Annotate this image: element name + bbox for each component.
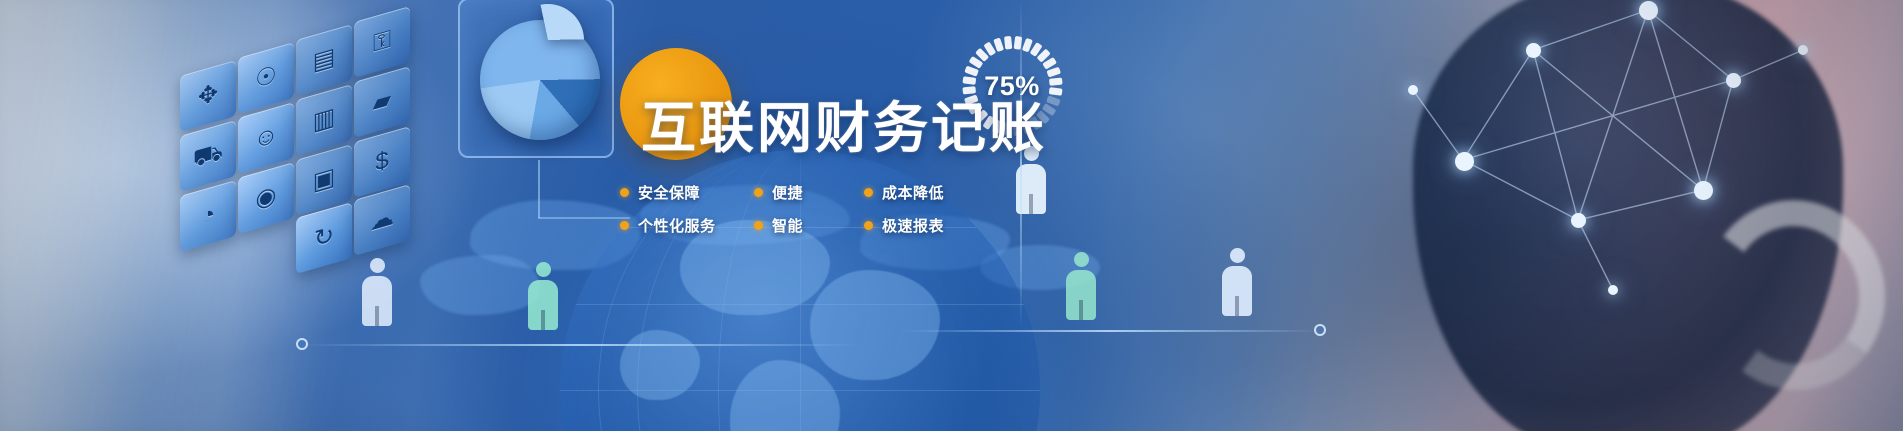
- background-vignette: [0, 0, 1903, 431]
- marketing-banner: ✥ ☉ ▤ ⚿ ⛟ ☺ ▥ ▰ ◔ ◉ ▣ $ ↻ ☁ 75%: [0, 0, 1903, 431]
